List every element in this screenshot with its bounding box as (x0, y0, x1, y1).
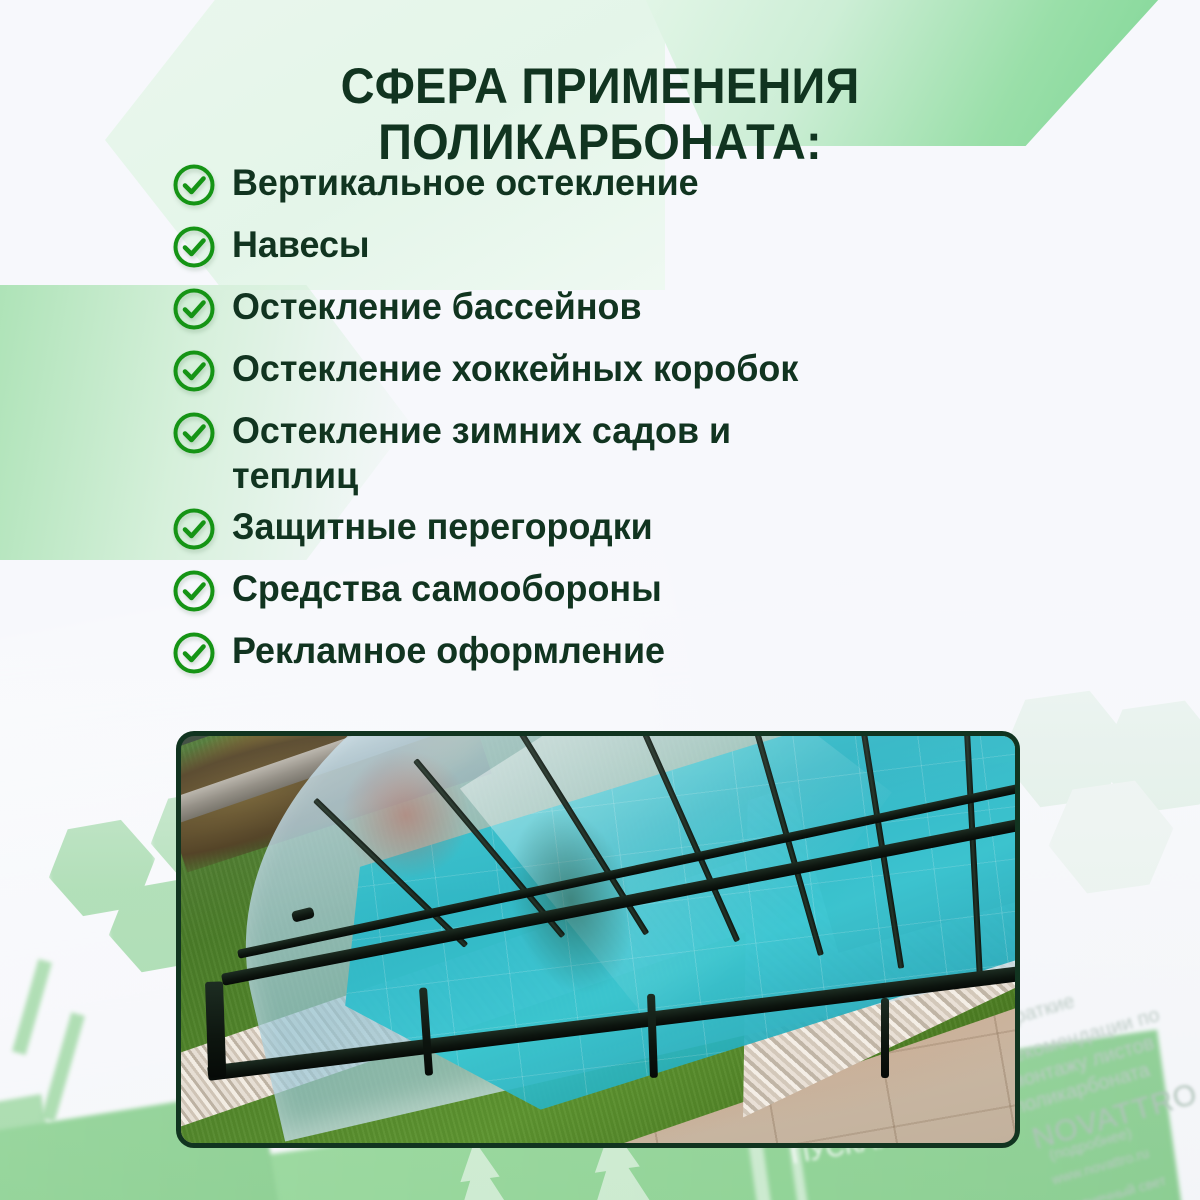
application-list: Вертикальное остекление Навесы Остеклени… (172, 160, 1072, 690)
list-item: Защитные перегородки (172, 504, 1072, 560)
check-circle-icon (172, 507, 216, 551)
page-title: СФЕРА ПРИМЕНЕНИЯ ПОЛИКАРБОНАТА: (36, 58, 1164, 170)
list-item-label: Защитные перегородки (232, 504, 653, 549)
list-item-label: Остекление зимних садов и теплиц (232, 408, 731, 498)
list-item: Остекление хоккейных коробок (172, 346, 1072, 402)
list-item-label: Рекламное оформление (232, 628, 665, 673)
list-item-label: Остекление бассейнов (232, 284, 642, 329)
list-item: Рекламное оформление (172, 628, 1072, 684)
list-item-label: Остекление хоккейных коробок (232, 346, 798, 391)
list-item: Остекление бассейнов (172, 284, 1072, 340)
poster-canvas: Краткие рекомендации по монтажу листов п… (0, 0, 1200, 1200)
list-item: Средства самообороны (172, 566, 1072, 622)
list-item: Остекление зимних садов и теплиц (172, 408, 1072, 498)
check-circle-icon (172, 349, 216, 393)
page-title-line-1: СФЕРА ПРИМЕНЕНИЯ (149, 58, 1051, 114)
photo-scene (181, 736, 1015, 1143)
check-circle-icon (172, 569, 216, 613)
list-item: Вертикальное остекление (172, 160, 1072, 216)
photo-frame-mullion-3 (881, 998, 889, 1078)
pool-enclosure-photo (176, 731, 1020, 1148)
list-item-label: Вертикальное остекление (232, 160, 699, 205)
check-circle-icon (172, 287, 216, 331)
list-item-label: Навесы (232, 222, 370, 267)
check-circle-icon (172, 163, 216, 207)
check-circle-icon (172, 631, 216, 675)
list-item: Навесы (172, 222, 1072, 278)
check-circle-icon (172, 225, 216, 269)
photo-frame-rail-edge (205, 981, 226, 1078)
check-circle-icon (172, 411, 216, 455)
list-item-label: Средства самообороны (232, 566, 662, 611)
